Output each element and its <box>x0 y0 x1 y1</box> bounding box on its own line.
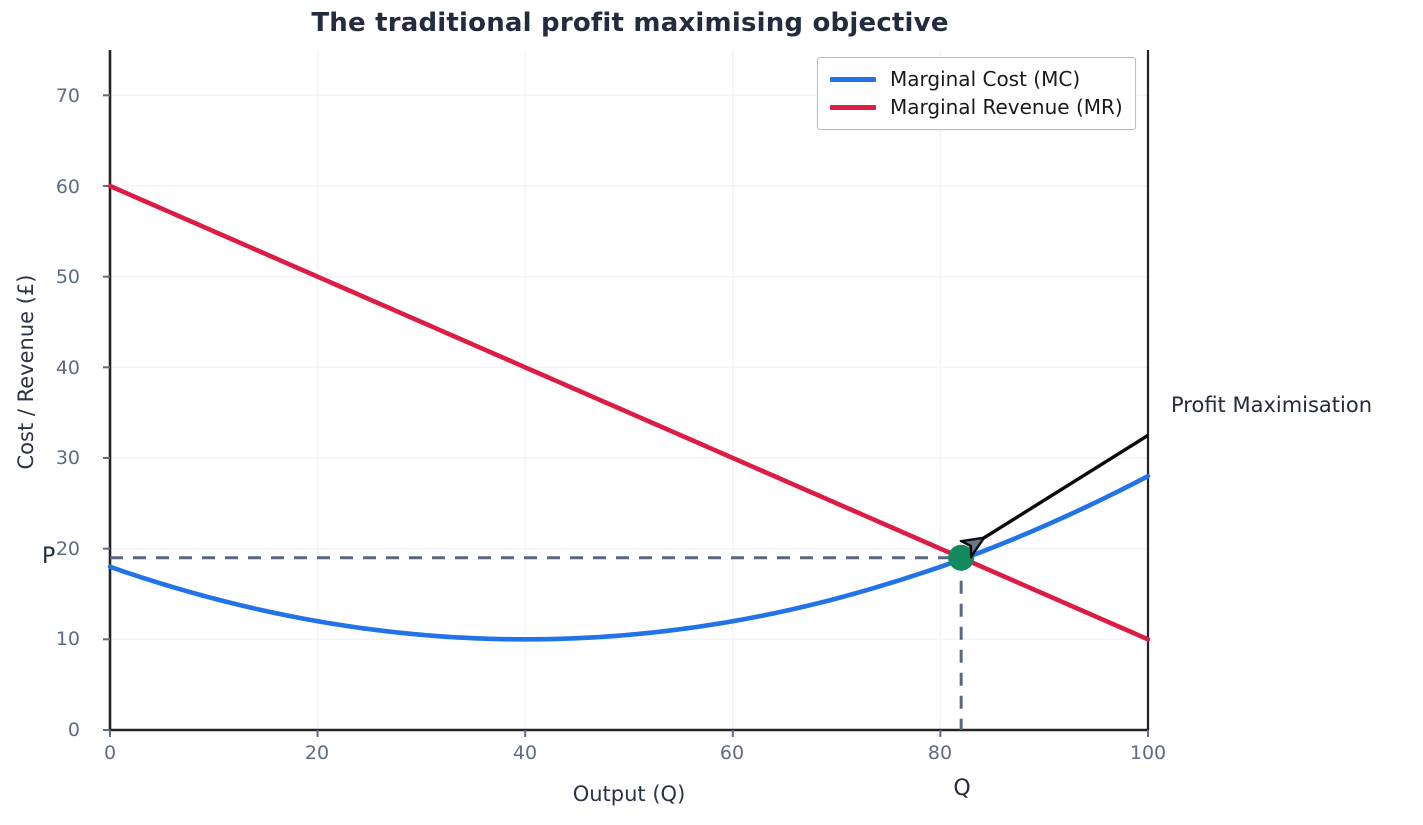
y-tick-label: 30 <box>20 447 80 469</box>
x-tick-label: 0 <box>70 742 150 764</box>
y-tick-label: 40 <box>20 357 80 379</box>
legend-label-mr: Marginal Revenue (MR) <box>890 95 1123 119</box>
price-axis-annotation: P <box>42 544 55 569</box>
legend-item-marginal-cost: Marginal Cost (MC) <box>830 65 1123 93</box>
y-tick-label: 50 <box>20 266 80 288</box>
y-tick-label: 10 <box>20 628 80 650</box>
y-tick-label: 0 <box>20 719 80 741</box>
legend-color-swatch-mc <box>830 77 876 82</box>
y-tick-label: 70 <box>20 85 80 107</box>
quantity-axis-annotation: Q <box>932 776 992 801</box>
x-tick-label: 60 <box>692 742 772 764</box>
chart-legend: Marginal Cost (MC) Marginal Revenue (MR) <box>817 57 1136 130</box>
plot-background <box>110 50 1148 730</box>
legend-label-mc: Marginal Cost (MC) <box>890 67 1080 91</box>
y-tick-label: 60 <box>20 176 80 198</box>
legend-item-marginal-revenue: Marginal Revenue (MR) <box>830 93 1123 121</box>
profit-maximisation-label: Profit Maximisation <box>1171 393 1372 417</box>
chart-figure: The traditional profit maximising object… <box>0 0 1423 825</box>
x-tick-label: 100 <box>1108 742 1188 764</box>
x-tick-label: 80 <box>900 742 980 764</box>
x-tick-label: 40 <box>485 742 565 764</box>
equilibrium-point-marker <box>948 545 974 571</box>
x-tick-label: 20 <box>277 742 357 764</box>
legend-color-swatch-mr <box>830 105 876 110</box>
